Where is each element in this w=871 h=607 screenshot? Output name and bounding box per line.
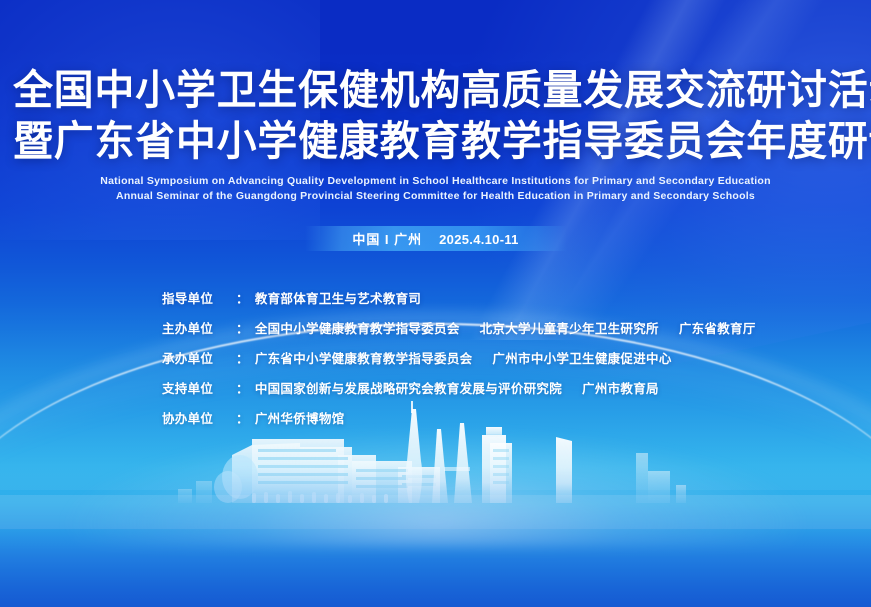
credit-separator: ： (236, 378, 249, 397)
credit-organization: 广东省教育厅 (679, 318, 756, 337)
credit-row: 支持单位 ： 中国国家创新与发展战略研究会教育发展与评价研究院 广州市教育局 (162, 378, 756, 397)
poster-title-chinese-line2: 暨广东省中小学健康教育教学指导委员会年度研讨活动 (13, 121, 858, 162)
credit-organization: 广州华侨博物馆 (255, 408, 345, 427)
credit-organization: 北京大学儿童青少年卫生研究所 (480, 318, 659, 337)
credit-row: 主办单位 ： 全国中小学健康教育教学指导委员会 北京大学儿童青少年卫生研究所 广… (162, 318, 756, 337)
conference-poster: 全国中小学卫生保健机构高质量发展交流研讨活动 暨广东省中小学健康教育教学指导委员… (0, 0, 871, 607)
poster-title-english-line1: National Symposium on Advancing Quality … (0, 174, 871, 189)
credit-label: 承办单位 (162, 348, 236, 367)
credit-row: 协办单位 ： 广州华侨博物馆 (162, 408, 756, 427)
credit-row: 指导单位 ： 教育部体育卫生与艺术教育司 (162, 288, 756, 307)
credit-separator: ： (236, 408, 249, 427)
credit-organization: 广州市教育局 (582, 378, 659, 397)
credit-organization: 中国国家创新与发展战略研究会教育发展与评价研究院 (255, 378, 562, 397)
event-info-banner: 中国 I 广州 2025.4.10-11 (305, 226, 567, 251)
credit-organization: 广州市中小学卫生健康促进中心 (492, 348, 671, 367)
credit-label: 协办单位 (162, 408, 236, 427)
credit-organization: 广东省中小学健康教育教学指导委员会 (255, 348, 473, 367)
credit-row: 承办单位 ： 广东省中小学健康教育教学指导委员会 广州市中小学卫生健康促进中心 (162, 348, 756, 367)
credit-organization: 全国中小学健康教育教学指导委员会 (255, 318, 460, 337)
event-location: 中国 I 广州 (352, 229, 422, 248)
event-info-banner-wrapper: 中国 I 广州 2025.4.10-11 (0, 226, 871, 251)
credit-label: 支持单位 (162, 378, 236, 397)
credit-label: 指导单位 (162, 288, 236, 307)
credit-separator: ： (236, 348, 249, 367)
credit-separator: ： (236, 318, 249, 337)
poster-title-chinese-line1: 全国中小学卫生保健机构高质量发展交流研讨活动 (13, 70, 858, 111)
poster-title-english-line2: Annual Seminar of the Guangdong Provinci… (0, 189, 871, 204)
credit-label: 主办单位 (162, 318, 236, 337)
event-dates: 2025.4.10-11 (439, 232, 519, 247)
organizer-credits: 指导单位 ： 教育部体育卫生与艺术教育司 主办单位 ： 全国中小学健康教育教学指… (162, 288, 756, 438)
title-block: 全国中小学卫生保健机构高质量发展交流研讨活动 暨广东省中小学健康教育教学指导委员… (0, 70, 871, 204)
credit-organization: 教育部体育卫生与艺术教育司 (255, 288, 421, 307)
credit-separator: ： (236, 288, 249, 307)
